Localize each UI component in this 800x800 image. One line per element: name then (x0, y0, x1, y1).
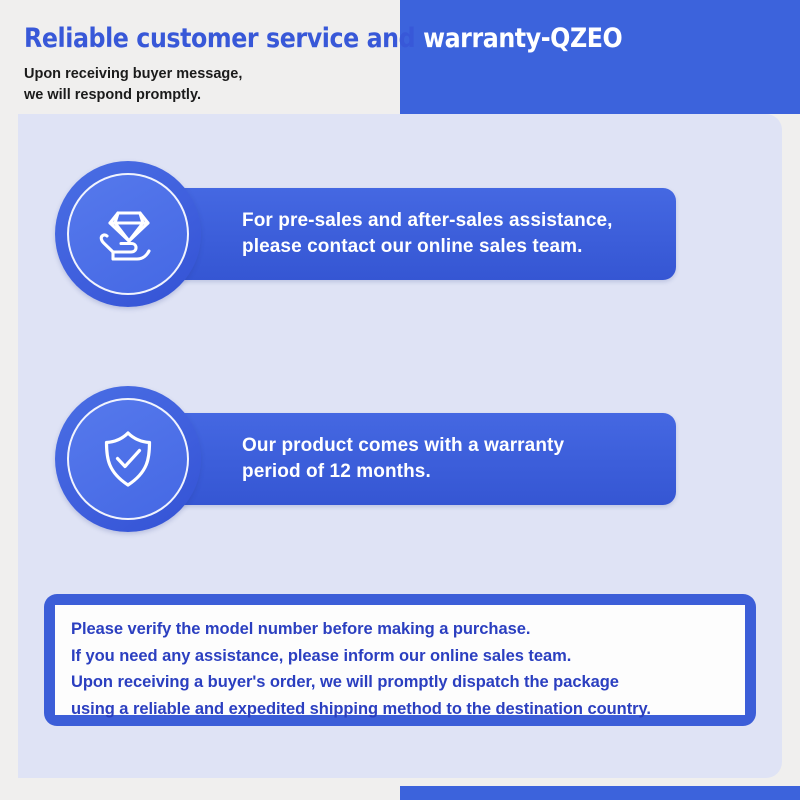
notice-line: using a reliable and expedited shipping … (71, 696, 729, 723)
diamond-in-hand-icon (67, 173, 189, 295)
feature-pill-warranty: Our product comes with a warranty period… (168, 413, 676, 505)
feature-row-presales: For pre-sales and after-sales assistance… (18, 161, 782, 307)
feature-pill-presales: For pre-sales and after-sales assistance… (168, 188, 676, 280)
feature-text-warranty: Our product comes with a warranty period… (168, 433, 578, 485)
notice-line: Upon receiving a buyer's order, we will … (71, 669, 729, 696)
header: Reliable customer service and warranty-Q… (0, 0, 800, 114)
page-title-main: Reliable customer service and (24, 23, 423, 54)
notice-line: If you need any assistance, please infor… (71, 643, 729, 670)
content-panel: For pre-sales and after-sales assistance… (18, 114, 782, 778)
header-subtitle: Upon receiving buyer message, we will re… (24, 64, 242, 106)
notice-inner: Please verify the model number before ma… (55, 605, 745, 715)
notice-box: Please verify the model number before ma… (44, 594, 756, 726)
decorative-blue-block-bottom (400, 786, 800, 800)
notice-line: Please verify the model number before ma… (71, 616, 729, 643)
feature-text-presales: For pre-sales and after-sales assistance… (168, 208, 627, 260)
shield-check-icon (67, 398, 189, 520)
feature-icon-badge (55, 161, 201, 307)
page-title-brand: warranty-QZEO (423, 23, 622, 54)
feature-row-warranty: Our product comes with a warranty period… (18, 386, 782, 532)
feature-icon-badge (55, 386, 201, 532)
promo-banner: Reliable customer service and warranty-Q… (0, 0, 800, 800)
page-title: Reliable customer service and warranty-Q… (24, 25, 622, 52)
